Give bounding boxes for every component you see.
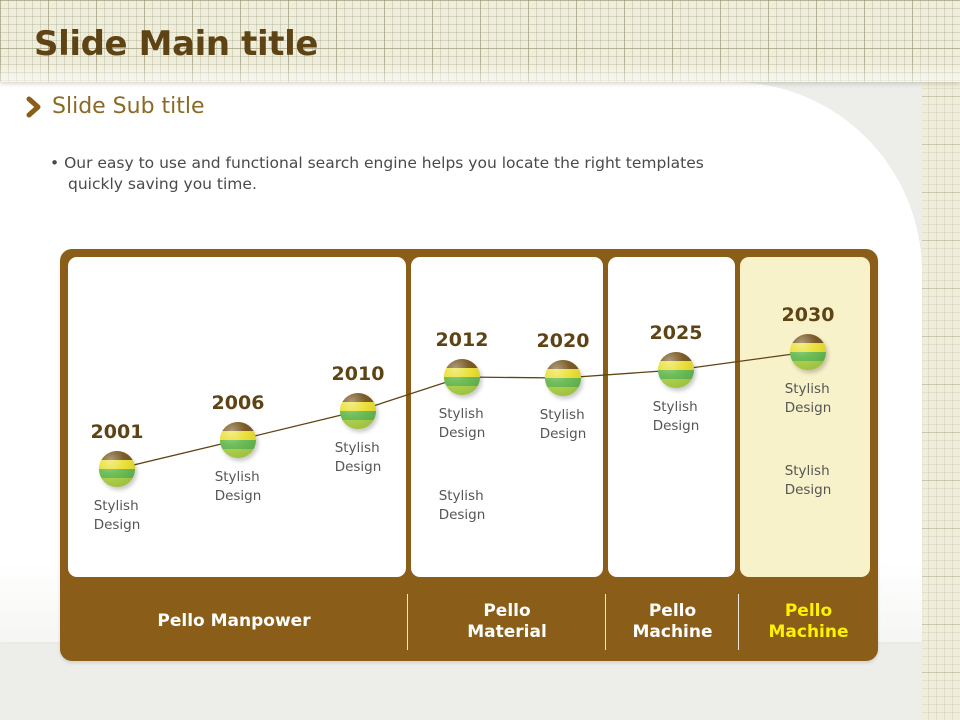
- chevron-right-icon: [26, 96, 42, 118]
- timeline-year-2025: 2025: [650, 322, 703, 344]
- caption-line-2: Design: [785, 399, 832, 418]
- category-label-machine-line2: Machine: [632, 622, 712, 643]
- caption-line-2: Design: [540, 425, 587, 444]
- caption2-line-1: Stylish: [785, 462, 832, 481]
- timeline-caption-2030: Stylish Design: [785, 380, 832, 418]
- timeline-caption-2025: Stylish Design: [653, 398, 700, 436]
- caption-line-2: Design: [215, 487, 262, 506]
- caption-line-1: Stylish: [439, 405, 486, 424]
- category-label-material[interactable]: Pello Material: [408, 582, 606, 661]
- page-subtitle: Slide Sub title: [52, 94, 205, 119]
- category-label-machine[interactable]: Pello Machine: [606, 582, 739, 661]
- caption2-line-2: Design: [785, 481, 832, 500]
- timeline-caption-2010: Stylish Design: [335, 439, 382, 477]
- bullet-line-2: quickly saving you time.: [68, 174, 750, 195]
- timeline-caption-secondary-2012: Stylish Design: [439, 487, 486, 525]
- caption2-line-1: Stylish: [439, 487, 486, 506]
- timeline-caption-2012: Stylish Design: [439, 405, 486, 443]
- header-fade: [0, 62, 960, 82]
- timeline-marker-icon-2006: [220, 422, 256, 458]
- timeline-year-2001: 2001: [91, 421, 144, 443]
- category-label-machine-line1: Pello: [632, 601, 712, 622]
- timeline-year-2020: 2020: [537, 330, 590, 352]
- page-title: Slide Main title: [34, 24, 318, 64]
- caption-line-2: Design: [439, 424, 486, 443]
- timeline-caption-2020: Stylish Design: [540, 406, 587, 444]
- category-label-machine-accent-line2: Machine: [768, 622, 848, 643]
- timeline-caption-2006: Stylish Design: [215, 468, 262, 506]
- timeline-marker-icon-2010: [340, 393, 376, 429]
- category-label-manpower[interactable]: Pello Manpower: [60, 582, 408, 661]
- body-bullets: • Our easy to use and functional search …: [50, 153, 750, 195]
- category-label-material-line1: Pello: [467, 601, 547, 622]
- timeline-frame: Pello Manpower Pello Material Pello Mach…: [60, 249, 878, 661]
- caption-line-1: Stylish: [540, 406, 587, 425]
- timeline-marker-icon-2001: [99, 451, 135, 487]
- category-label-material-line2: Material: [467, 622, 547, 643]
- subtitle-row: Slide Sub title: [26, 94, 205, 119]
- timeline-marker-icon-2030: [790, 334, 826, 370]
- slide-canvas: Slide Main title Slide Sub title • Our e…: [0, 0, 960, 720]
- caption-line-1: Stylish: [335, 439, 382, 458]
- caption-line-2: Design: [653, 417, 700, 436]
- timeline-year-2006: 2006: [212, 392, 265, 414]
- caption-line-2: Design: [335, 458, 382, 477]
- caption-line-1: Stylish: [653, 398, 700, 417]
- timeline-year-2030: 2030: [782, 304, 835, 326]
- timeline-caption-2001: Stylish Design: [94, 497, 141, 535]
- timeline-caption-secondary-2030: Stylish Design: [785, 462, 832, 500]
- timeline-year-2012: 2012: [436, 329, 489, 351]
- timeline-year-2010: 2010: [332, 363, 385, 385]
- bullet-line-1: • Our easy to use and functional search …: [50, 153, 750, 174]
- category-label-manpower-line1: Pello Manpower: [157, 611, 310, 632]
- timeline-marker-icon-2012: [444, 359, 480, 395]
- caption-line-2: Design: [94, 516, 141, 535]
- caption-line-1: Stylish: [94, 497, 141, 516]
- timeline-marker-icon-2025: [658, 352, 694, 388]
- category-label-bar: Pello Manpower Pello Material Pello Mach…: [60, 582, 878, 661]
- category-label-machine-accent-line1: Pello: [768, 601, 848, 622]
- caption-line-1: Stylish: [785, 380, 832, 399]
- caption-line-1: Stylish: [215, 468, 262, 487]
- category-label-machine-accent[interactable]: Pello Machine: [739, 582, 878, 661]
- caption2-line-2: Design: [439, 506, 486, 525]
- timeline-marker-icon-2020: [545, 360, 581, 396]
